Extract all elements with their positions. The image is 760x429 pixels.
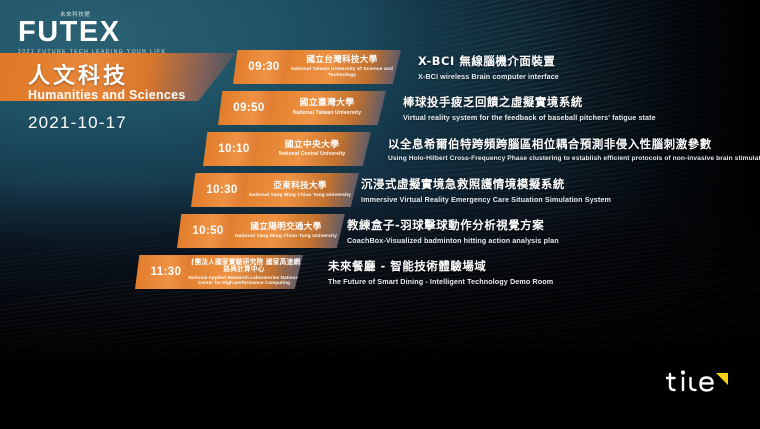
organization-name-en: National Central University (279, 152, 346, 158)
organization-name-en: National Taiwan University of Science an… (283, 67, 401, 78)
session-title-block: 以全息希爾伯特跨頻跨腦區相位耦合預測非侵入性腦刺激參數Using Holo-Hi… (378, 132, 760, 166)
organization-name-zh: 國立陽明交通大學 (250, 223, 321, 233)
organization-name-en: National Taiwan University (293, 111, 361, 117)
session-title-en: Virtual reality system for the feedback … (403, 113, 656, 122)
session-title-block: 棒球投手疲乏回饋之虛擬實境系統Virtual reality system fo… (393, 91, 656, 125)
organization-name-zh: 財團法人國家實驗研究院 國家高速網路與計算中心 (185, 259, 303, 274)
session-title-zh: 未來餐廳 - 智能技術體驗場域 (328, 258, 553, 274)
organization-name-zh: 亞東科技大學 (273, 182, 326, 192)
organization-name-en: National Yang Ming Chiao Tung University (249, 193, 351, 198)
session-title-zh: 棒球投手疲乏回饋之虛擬實境系統 (403, 94, 656, 110)
schedule-list: 09:30國立台灣科技大學National Taiwan University … (0, 0, 760, 429)
tie-logo (666, 367, 738, 397)
session-title-en: Using Holo-Hilbert Cross-Frequency Phase… (388, 155, 760, 162)
session-organization: 國立陽明交通大學National Yang Ming Chiao Tung Un… (227, 214, 345, 248)
session-title-zh: 以全息希爾伯特跨頻跨腦區相位耦合預測非侵入性腦刺激參數 (388, 136, 760, 152)
organization-name-zh: 國立台灣科技大學 (306, 56, 377, 66)
session-title-block: 教練盒子-羽球擊球動作分析視覺方案CoachBox-Visualized bad… (337, 214, 559, 248)
schedule-row[interactable]: 10:10國立中央大學National Central University以全… (0, 132, 760, 170)
organization-name-zh: 國立中央大學 (285, 141, 340, 151)
schedule-row[interactable]: 09:50國立臺灣大學National Taiwan University棒球投… (0, 91, 760, 129)
session-title-en: Immersive Virtual Reality Emergency Care… (361, 195, 611, 204)
session-title-block: 未來餐廳 - 智能技術體驗場域The Future of Smart Dinin… (318, 255, 553, 289)
organization-name-en: National Yang Ming Chiao Tung University (235, 234, 337, 239)
organization-name-en: National Applied Research Laboratories N… (185, 275, 303, 285)
organization-name-zh: 國立臺灣大學 (300, 99, 355, 109)
schedule-row[interactable]: 10:30亞東科技大學National Yang Ming Chiao Tung… (0, 173, 760, 211)
session-organization: 財團法人國家實驗研究院 國家高速網路與計算中心National Applied … (185, 255, 303, 289)
session-organization: 亞東科技大學National Yang Ming Chiao Tung Univ… (241, 173, 359, 207)
session-organization: 國立中央大學National Central University (253, 132, 371, 166)
schedule-row[interactable]: 09:30國立台灣科技大學National Taiwan University … (0, 50, 760, 88)
session-title-en: X-BCI wireless Brain computer interface (418, 72, 559, 81)
presentation-slide: 未來科技館 FUTEX 2021 FUTURE TECH LEADING YOU… (0, 0, 760, 429)
session-title-block: X-BCI 無線腦機介面裝置X-BCI wireless Brain compu… (408, 50, 559, 84)
session-organization: 國立臺灣大學National Taiwan University (268, 91, 386, 125)
schedule-row[interactable]: 11:30財團法人國家實驗研究院 國家高速網路與計算中心National App… (0, 255, 760, 293)
session-title-en: The Future of Smart Dining - Intelligent… (328, 277, 553, 286)
session-title-zh: X-BCI 無線腦機介面裝置 (418, 53, 559, 69)
session-title-en: CoachBox-Visualized badminton hitting ac… (347, 236, 559, 245)
session-organization: 國立台灣科技大學National Taiwan University of Sc… (283, 50, 401, 84)
session-title-zh: 沉浸式虛擬實境急救照護情境模擬系統 (361, 176, 611, 192)
session-title-zh: 教練盒子-羽球擊球動作分析視覺方案 (347, 217, 559, 233)
session-title-block: 沉浸式虛擬實境急救照護情境模擬系統Immersive Virtual Reali… (351, 173, 611, 207)
schedule-row[interactable]: 10:50國立陽明交通大學National Yang Ming Chiao Tu… (0, 214, 760, 252)
